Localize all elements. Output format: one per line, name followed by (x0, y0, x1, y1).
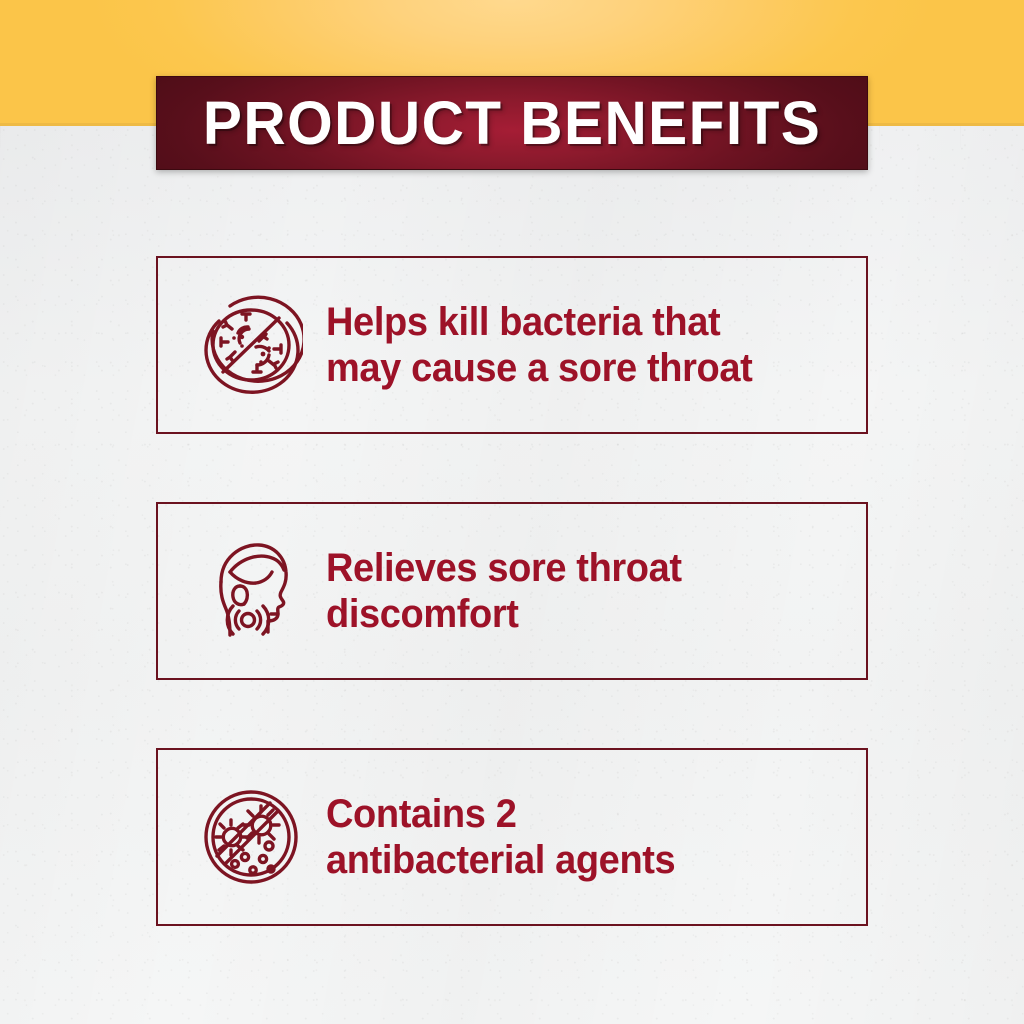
benefit-text-2-line2: discomfort (326, 591, 822, 637)
benefit-text-1-line1: Helps kill bacteria that (326, 299, 822, 345)
title-banner: PRODUCT BENEFITS (156, 76, 868, 170)
benefit-text-2: Relieves sore throat discomfort (326, 545, 839, 638)
benefit-text-1: Helps kill bacteria that may cause a sor… (326, 299, 839, 392)
benefit-card-3: Contains 2 antibacterial agents (156, 748, 868, 926)
product-benefits-page: PRODUCT BENEFITS (0, 0, 1024, 1024)
benefit-text-3: Contains 2 antibacterial agents (326, 791, 839, 884)
benefit-card-2: Relieves sore throat discomfort (156, 502, 868, 680)
benefit-card-1: Helps kill bacteria that may cause a sor… (156, 256, 868, 434)
benefit-text-1-line2: may cause a sore throat (326, 345, 822, 391)
benefit-text-2-line1: Relieves sore throat (326, 545, 822, 591)
no-germs-icon (176, 748, 326, 926)
page-title: PRODUCT BENEFITS (203, 93, 821, 154)
benefit-text-3-line1: Contains 2 (326, 791, 822, 837)
sore-throat-head-icon (176, 502, 326, 680)
no-bacteria-icon (176, 256, 326, 434)
benefit-text-3-line2: antibacterial agents (326, 837, 822, 883)
